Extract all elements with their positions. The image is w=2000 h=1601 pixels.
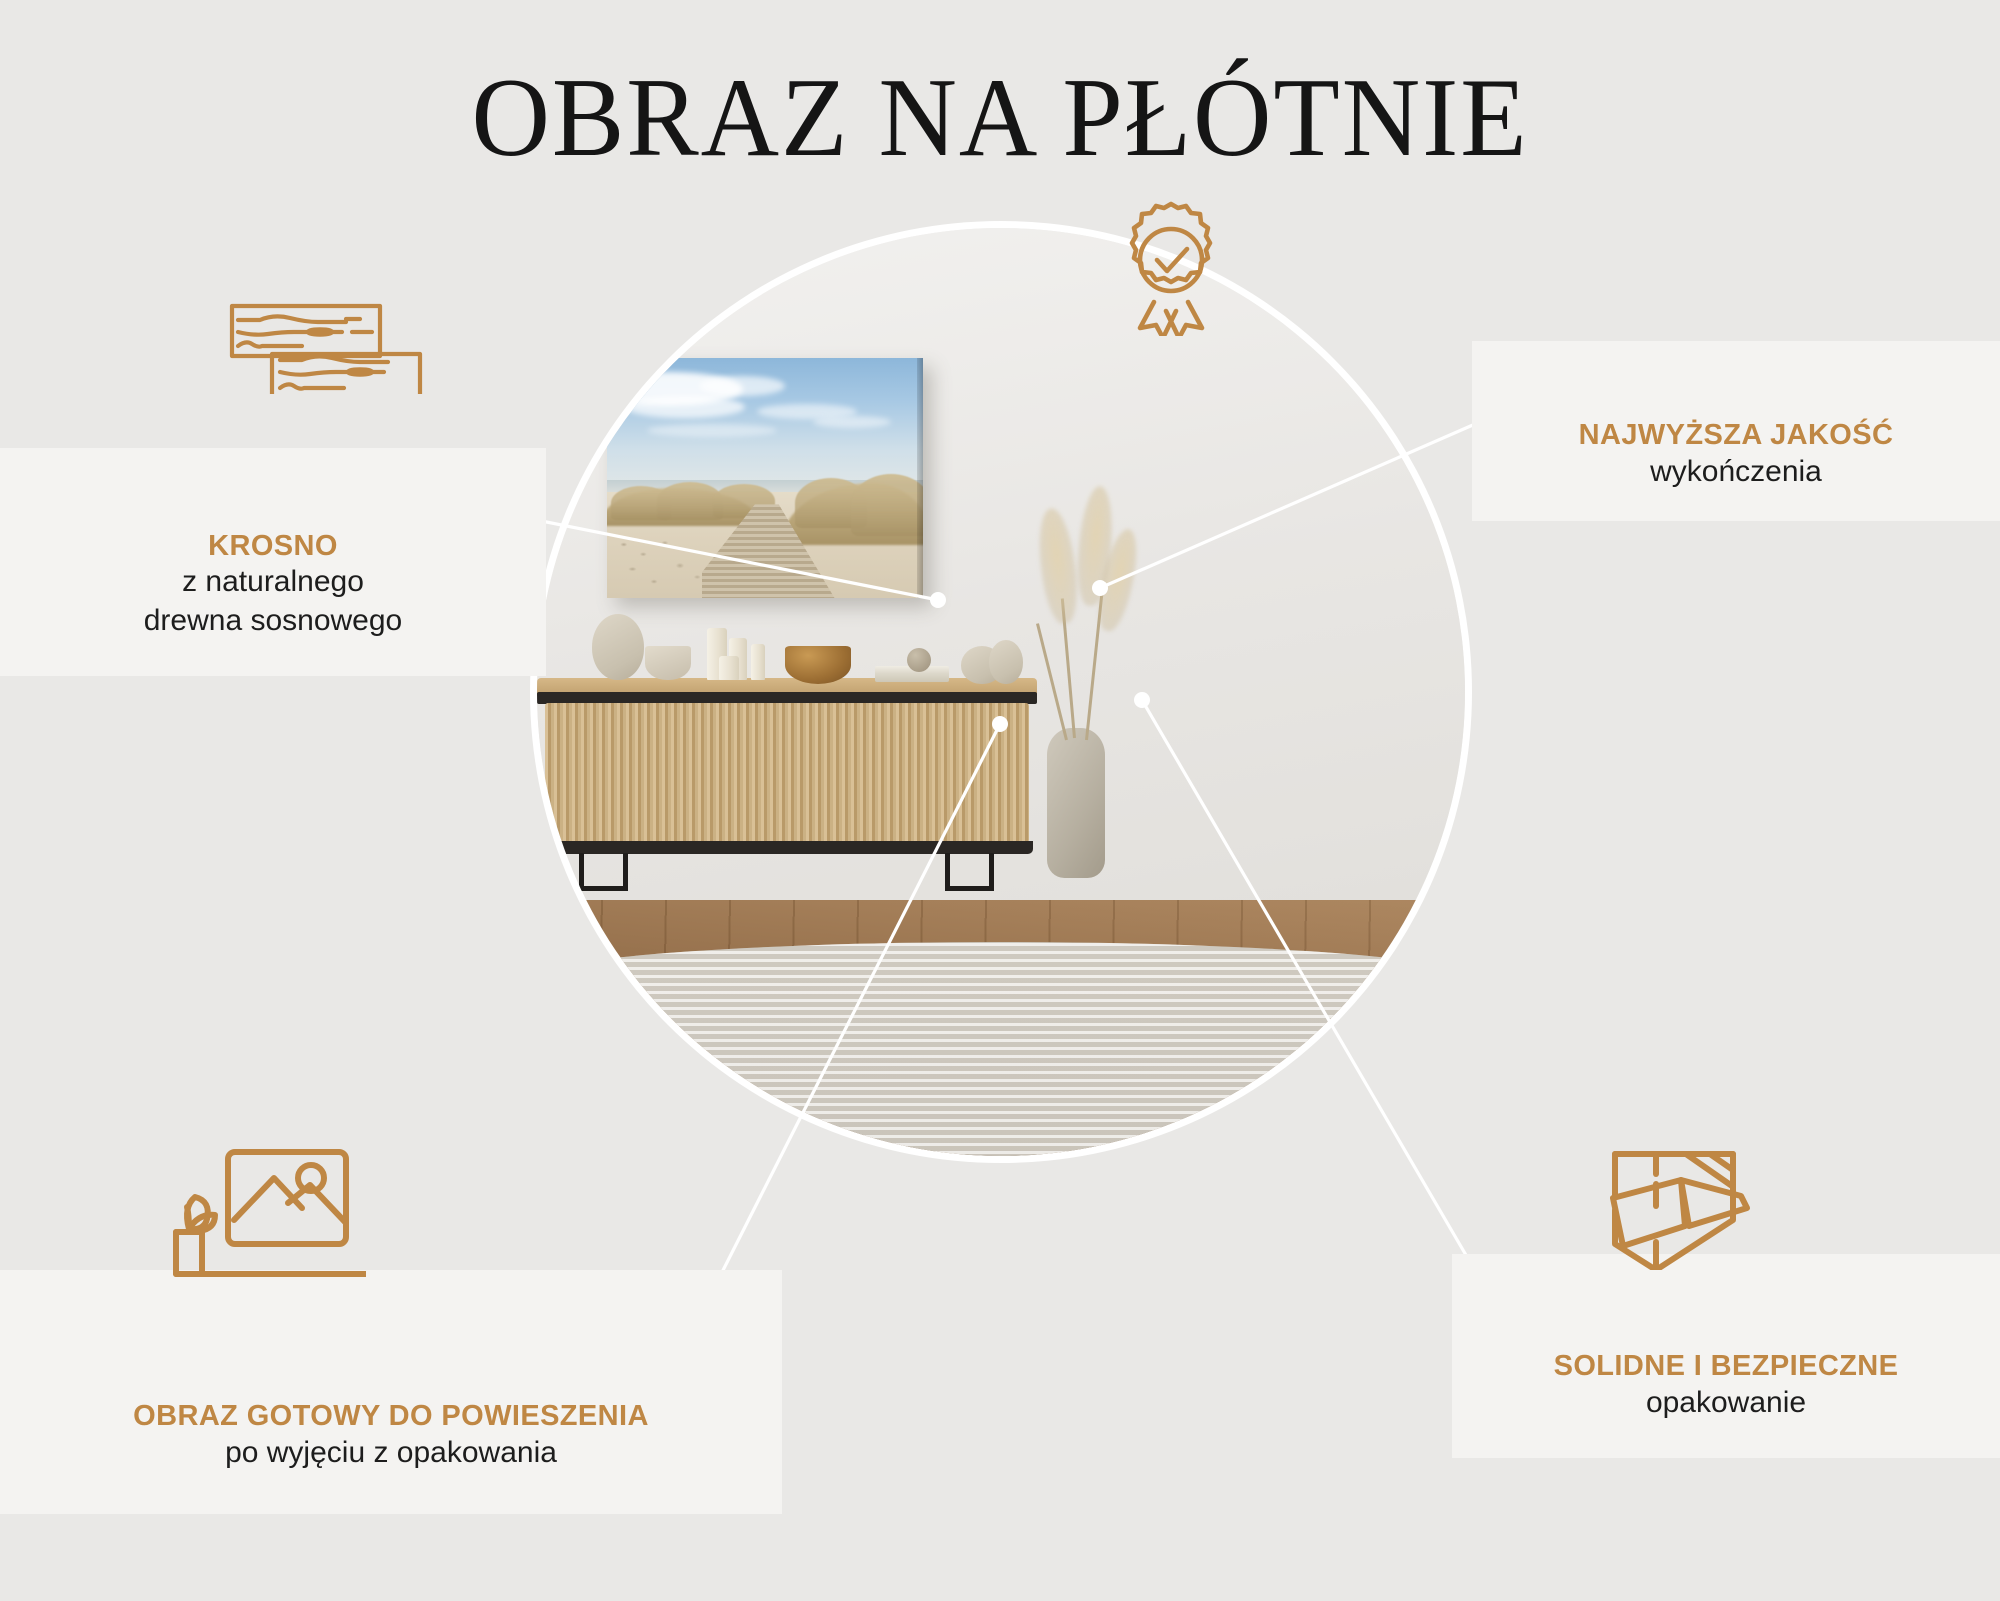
sideboard-foot (945, 886, 991, 891)
framed-picture-plant-icon (140, 1144, 366, 1334)
brass-bowl (785, 646, 851, 684)
wood-planks-icon (228, 302, 444, 394)
floor-vase (1047, 728, 1105, 878)
ceramic-vase-large (592, 614, 644, 680)
feature-subtitle-line2-krosno: drewna sosnowego (18, 602, 528, 640)
sideboard-furniture (537, 678, 1037, 868)
area-rug (537, 942, 1465, 1156)
cloud (813, 416, 891, 428)
canvas-edge (917, 358, 923, 598)
product-scene-circle (537, 228, 1465, 1156)
feature-subtitle-line1-gotowy: po wyjęciu z opakowania (18, 1434, 764, 1472)
award-rosette-icon (1108, 198, 1234, 336)
infographic-root: OBRAZ NA PŁÓTNIE (0, 0, 2000, 1601)
textured-sphere (907, 648, 931, 672)
pillar-candle (719, 656, 739, 680)
open-box-icon (1610, 1122, 1756, 1270)
dune-grass (851, 474, 923, 536)
cloud (625, 396, 745, 418)
feature-subtitle-line1-krosno: z naturalnego (18, 563, 528, 601)
feature-text-krosno: KROSNO z naturalnego drewna sosnowego (0, 530, 546, 676)
feature-panel-jakosc: NAJWYŻSZA JAKOŚĆ wykończenia (1472, 341, 2000, 521)
feature-title-jakosc: NAJWYŻSZA JAKOŚĆ (1490, 419, 1982, 452)
ceramic-vase-tall (989, 640, 1023, 684)
cloud (699, 376, 785, 396)
sideboard-fluted-front (545, 703, 1029, 843)
pillar-candle (751, 644, 765, 680)
feature-text-opakowanie: SOLIDNE I BEZPIECZNE opakowanie (1452, 1350, 2000, 1458)
room-interior (537, 228, 1465, 1156)
feature-subtitle-line1-jakosc: wykończenia (1490, 453, 1982, 491)
ceramic-bowl-small (645, 646, 691, 680)
feature-title-krosno: KROSNO (18, 530, 528, 563)
feature-panel-opakowanie: SOLIDNE I BEZPIECZNE opakowanie (1452, 1254, 2000, 1458)
feature-subtitle-line1-opakowanie: opakowanie (1470, 1384, 1982, 1422)
cloud (647, 424, 777, 437)
sideboard-foot (579, 886, 625, 891)
feature-text-gotowy: OBRAZ GOTOWY DO POWIESZENIA po wyjęciu z… (0, 1400, 782, 1514)
sideboard-base (541, 841, 1033, 854)
feature-title-gotowy: OBRAZ GOTOWY DO POWIESZENIA (18, 1400, 764, 1433)
feature-panel-krosno: KROSNO z naturalnego drewna sosnowego (0, 448, 546, 676)
page-title: OBRAZ NA PŁÓTNIE (30, 62, 1970, 174)
canvas-artwork (607, 358, 923, 598)
feature-title-opakowanie: SOLIDNE I BEZPIECZNE (1470, 1350, 1982, 1383)
sand-footprints (613, 536, 720, 594)
feature-panel-gotowy: OBRAZ GOTOWY DO POWIESZENIA po wyjęciu z… (0, 1270, 782, 1514)
feature-text-jakosc: NAJWYŻSZA JAKOŚĆ wykończenia (1472, 419, 2000, 521)
